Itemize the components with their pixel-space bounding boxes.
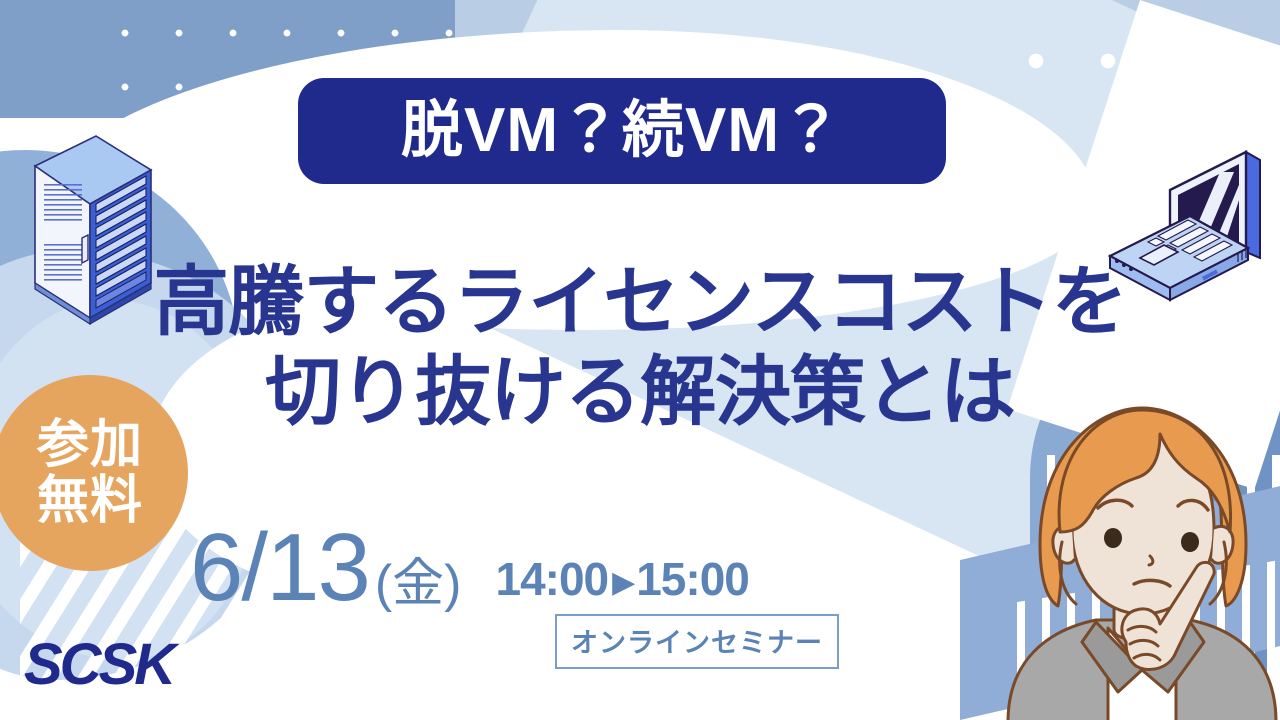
scsk-logo: SCSK <box>24 636 173 694</box>
event-day-of-week: (金) <box>375 558 462 610</box>
event-time-start: 14:00 <box>495 553 608 605</box>
time-arrow-icon: ▶ <box>612 568 634 598</box>
event-time-range: 14:00▶15:00 <box>495 556 748 602</box>
event-time-end: 15:00 <box>636 553 749 605</box>
headline-line-1: 高騰するライセンスコストを <box>100 258 1180 348</box>
seminar-type-badge: オンラインセミナー <box>555 614 839 669</box>
free-badge-line-2: 無料 <box>37 473 143 529</box>
title-badge-label: 脱VM？続VM？ <box>401 100 843 162</box>
webinar-banner: 脱VM？続VM？ 高騰するライセンスコストを 切り抜ける解決策とは 参加 無料 … <box>0 0 1280 720</box>
event-date: 6/13 <box>190 520 369 616</box>
title-badge: 脱VM？続VM？ <box>298 78 946 184</box>
free-badge-line-1: 参加 <box>37 417 143 473</box>
free-participation-badge: 参加 無料 <box>0 375 188 571</box>
headline-line-2: 切り抜ける解決策とは <box>100 348 1180 438</box>
date-row: 6/13 (金) 14:00▶15:00 <box>190 520 749 616</box>
event-datetime: 6/13 (金) 14:00▶15:00 オンラインセミナー <box>190 520 890 670</box>
thinking-woman-illustration <box>1000 392 1280 720</box>
page-title: 高騰するライセンスコストを 切り抜ける解決策とは <box>100 258 1180 437</box>
